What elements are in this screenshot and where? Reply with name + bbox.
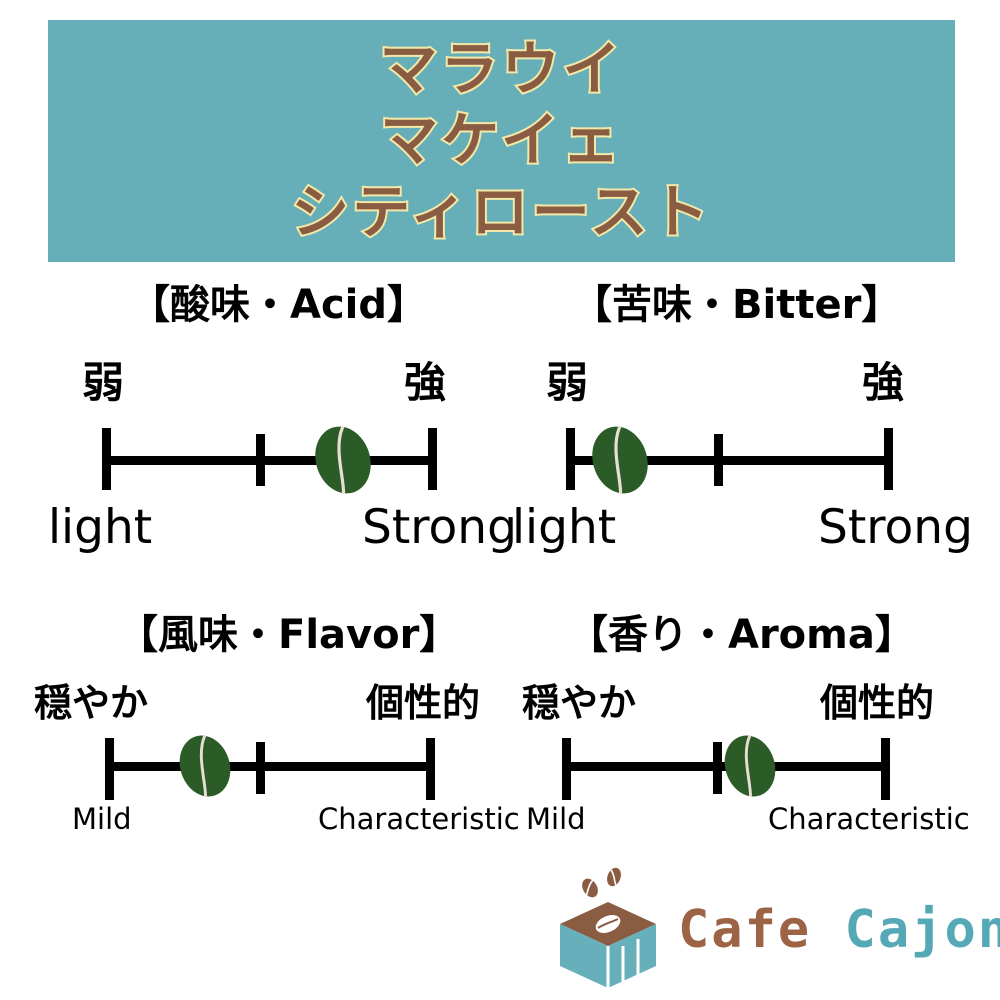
scale-bitter: 弱 強 light Strong <box>500 350 1000 565</box>
scale-aroma: 穏やか 個性的 Mild Characteristic <box>500 680 1000 870</box>
scale-flavor-label-mild: 穏やか <box>34 684 148 722</box>
scale-aroma-label-mild: 穏やか <box>522 684 636 722</box>
scale-acid-foot-light: light <box>48 504 152 551</box>
scale-bitter-foot-light: light <box>512 504 616 551</box>
section-heading-aroma: 【香り・Aroma】 <box>568 602 915 660</box>
coffee-bean-icon <box>305 418 381 502</box>
scale-flavor-axis-line <box>105 762 430 771</box>
scale-aroma-tick-right <box>881 738 890 800</box>
scale-aroma-foot-mild: Mild <box>526 805 586 834</box>
section-heading-acid: 【酸味・Acid】 <box>130 272 427 330</box>
scale-acid-foot-strong: Strong <box>362 504 517 551</box>
coffee-bean-icon <box>582 418 658 502</box>
scale-bitter-label-weak: 弱 <box>546 362 588 404</box>
brand-logo: Cafe Cajon <box>548 866 978 991</box>
scale-aroma-tick-left <box>562 738 571 800</box>
scale-flavor: 穏やか 個性的 Mild Characteristic <box>0 680 500 870</box>
scale-aroma-axis-area: 穏やか 個性的 Mild Characteristic <box>500 680 1000 870</box>
product-title-line-1: マラウイ <box>379 35 623 105</box>
scale-acid-axis-area: 弱 強 light Strong <box>0 350 500 565</box>
coffee-bean-icon <box>715 728 784 805</box>
scale-aroma-label-characteristic: 個性的 <box>820 684 934 722</box>
tasting-chart-page: マラウイ マケイェ シティロースト 【酸味・Acid】 【苦味・Bitter】 … <box>0 0 1000 1000</box>
scale-acid-tick-right <box>428 428 437 490</box>
scale-flavor-tick-left <box>105 738 114 800</box>
scale-flavor-label-characteristic: 個性的 <box>366 684 480 722</box>
brand-logo-text: Cafe Cajon <box>678 904 1000 956</box>
section-heading-flavor: 【風味・Flavor】 <box>118 602 459 660</box>
scale-bitter-tick-left <box>566 428 575 490</box>
scale-flavor-tick-right <box>426 738 435 800</box>
scale-bitter-foot-strong: Strong <box>818 504 973 551</box>
scale-flavor-foot-characteristic: Characteristic <box>318 805 520 834</box>
scale-flavor-foot-mild: Mild <box>72 805 132 834</box>
scale-acid-tick-left <box>102 428 111 490</box>
scale-acid-axis-line <box>102 456 432 465</box>
product-title-line-2: マケイェ <box>380 106 623 176</box>
scale-acid: 弱 強 light Strong <box>0 350 500 565</box>
section-heading-bitter: 【苦味・Bitter】 <box>572 272 901 330</box>
scale-flavor-axis-area: 穏やか 個性的 Mild Characteristic <box>0 680 500 870</box>
coffee-bean-icon <box>170 728 239 805</box>
brand-logo-text-cajon: Cajon <box>845 900 1000 960</box>
scale-flavor-tick-middle <box>256 742 265 794</box>
product-title-band: マラウイ マケイェ シティロースト <box>48 20 955 262</box>
product-title-line-3: シティロースト <box>291 178 712 248</box>
scale-bitter-tick-right <box>884 428 893 490</box>
scale-acid-tick-middle <box>256 434 265 486</box>
scale-bitter-label-strong: 強 <box>862 362 904 404</box>
brand-logo-text-cafe: Cafe <box>678 900 811 960</box>
scale-aroma-foot-characteristic: Characteristic <box>768 805 970 834</box>
scale-acid-label-weak: 弱 <box>82 362 124 404</box>
cajon-box-icon <box>548 866 668 991</box>
scale-bitter-axis-area: 弱 強 light Strong <box>500 350 1000 565</box>
scale-acid-label-strong: 強 <box>404 362 446 404</box>
scale-bitter-tick-middle <box>714 434 723 486</box>
